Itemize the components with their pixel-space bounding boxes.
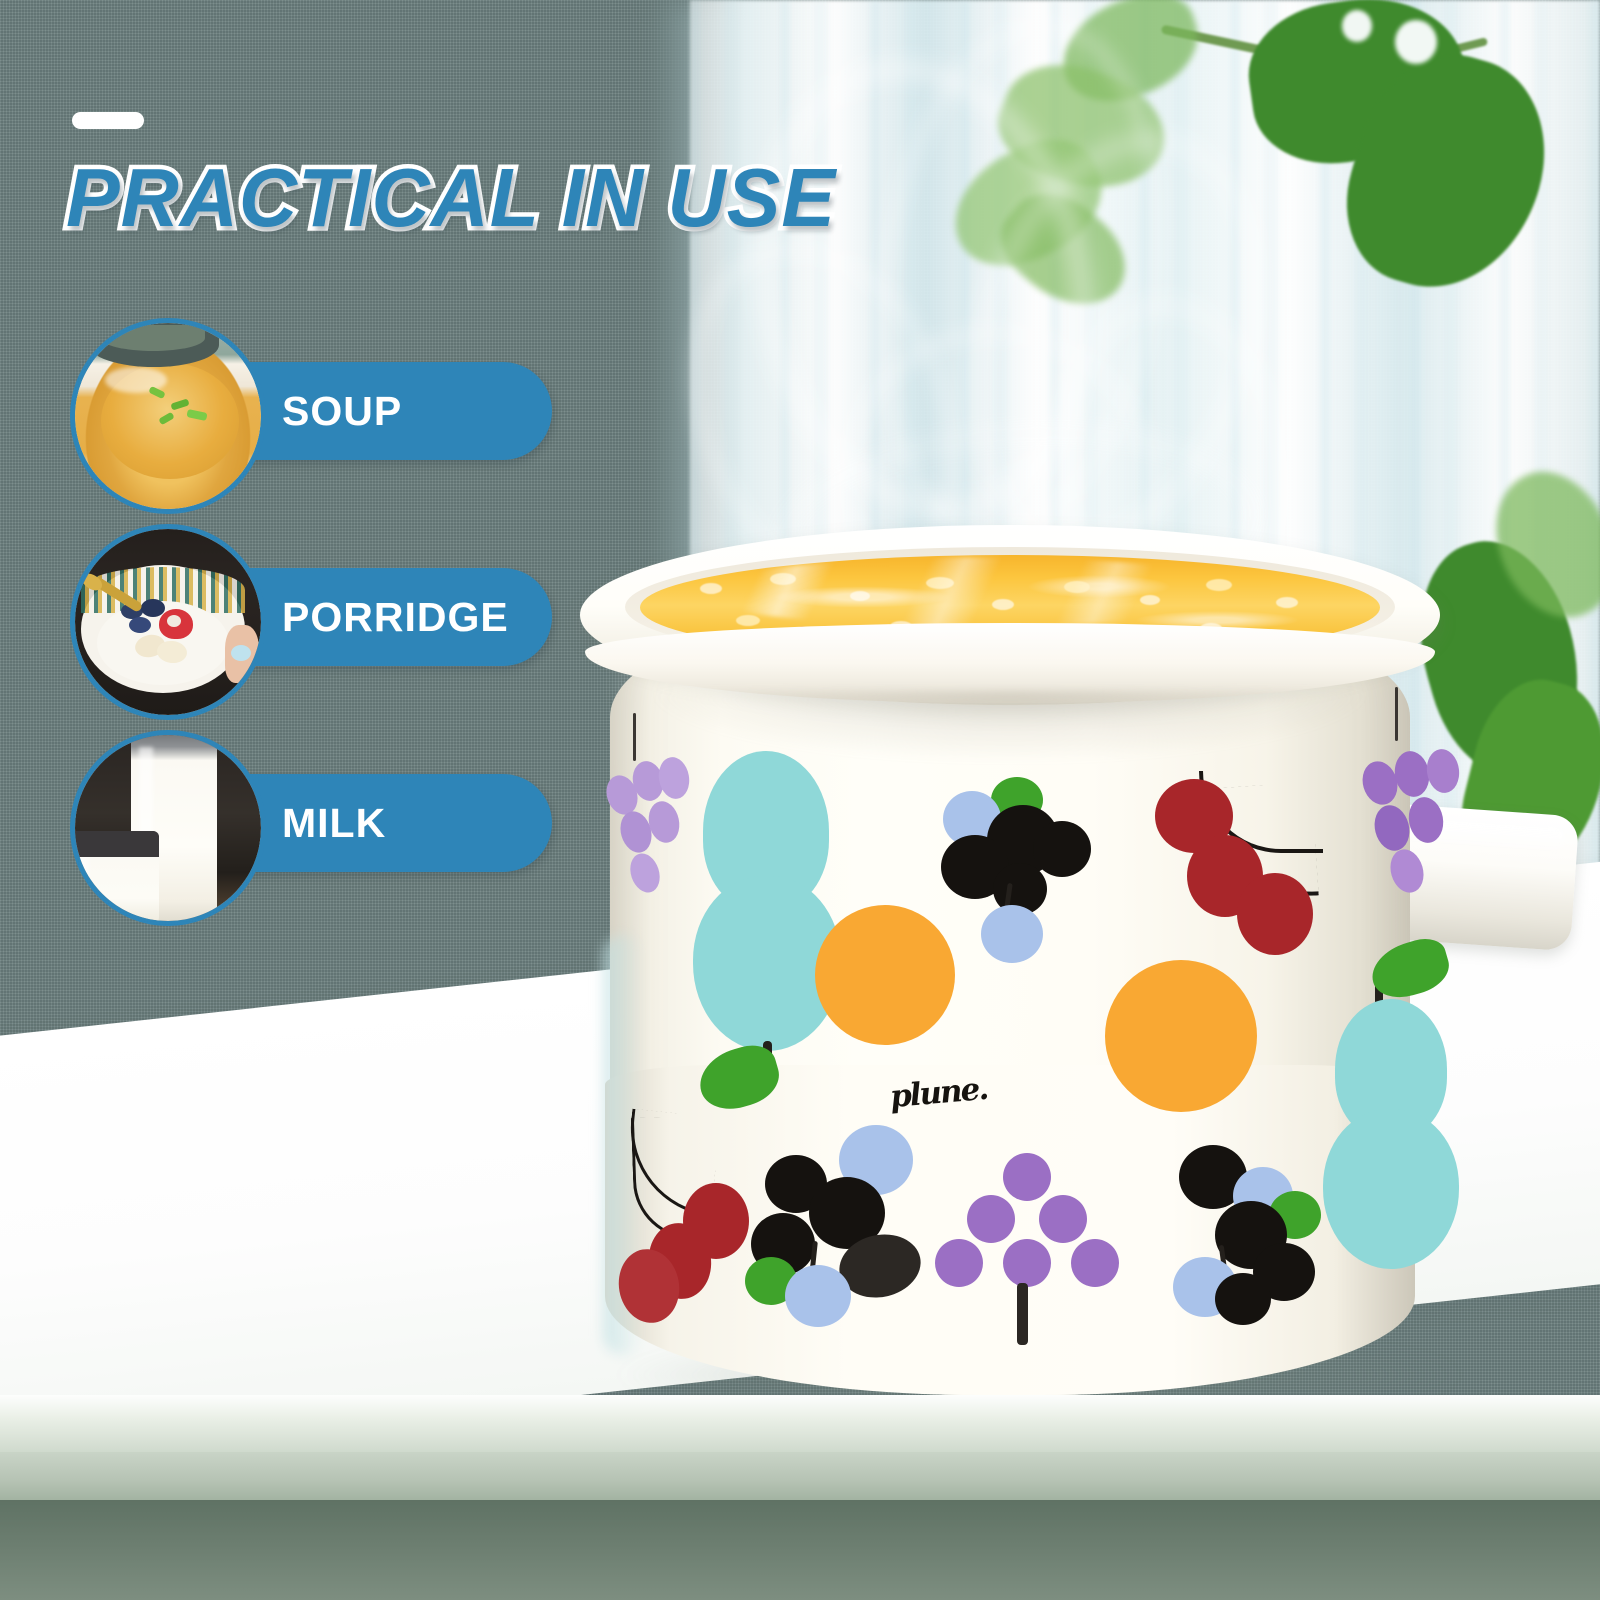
accent-dash (72, 112, 144, 129)
feature-label-porridge: PORRIDGE (282, 568, 509, 666)
feature-pill-soup[interactable]: SOUP (222, 362, 552, 460)
feature-label-soup: SOUP (282, 362, 402, 460)
feature-pill-milk[interactable]: MILK (222, 774, 552, 872)
table-edge (0, 1452, 1600, 1504)
feature-item-soup[interactable]: SOUP (70, 318, 490, 504)
brand-text: plune. (889, 1071, 989, 1115)
feature-thumb-soup[interactable] (70, 318, 266, 514)
soup-bowl-photo (75, 323, 261, 509)
feature-item-milk[interactable]: MILK (70, 730, 490, 916)
milk-glass-photo (75, 735, 261, 921)
feature-pill-porridge[interactable]: PORRIDGE (222, 568, 552, 666)
porridge-bowl-photo (75, 529, 261, 715)
promo-banner: plune. (0, 0, 1600, 1600)
table-underside (0, 1500, 1600, 1600)
feature-item-porridge[interactable]: PORRIDGE (70, 524, 490, 710)
feature-thumb-porridge[interactable] (70, 524, 266, 720)
pot-neck-shadow (655, 691, 1365, 761)
enamel-milk-pot: plune. (545, 505, 1565, 1415)
brand-mark: plune. (890, 1075, 987, 1111)
feature-thumb-milk[interactable] (70, 730, 266, 926)
soup-highlight (695, 557, 1255, 627)
feature-label-milk: MILK (282, 774, 386, 872)
page-title: PRACTICAL IN USE (66, 150, 836, 246)
